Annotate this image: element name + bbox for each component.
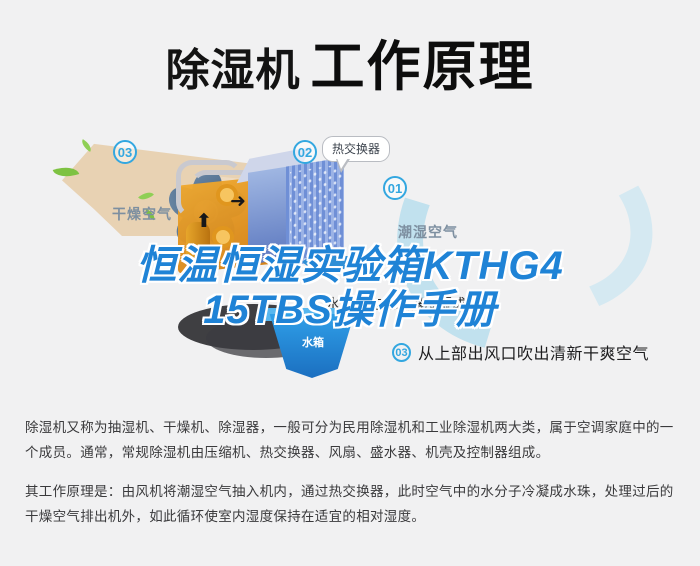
dehumidifier-principle-page: 除湿机工作原理 03 干燥空气 ➜ ⬇ ⬆: [0, 0, 700, 566]
paragraph-1: 除湿机又称为抽湿机、干燥机、除湿器，一般可分为民用除湿机和工业除湿机两大类，属于…: [25, 415, 680, 465]
step-badge-01: 01: [383, 176, 407, 200]
page-title: 除湿机工作原理: [0, 22, 700, 101]
principle-illustration: 03 干燥空气 ➜ ⬇ ⬆ ⬇ 02 热交换器 0: [0, 118, 700, 408]
humid-air-label: 潮湿空气: [398, 222, 458, 242]
step-badge-03: 03: [113, 140, 137, 164]
page-title-part1: 除湿机: [166, 46, 301, 95]
step-badge-02: 02: [293, 140, 317, 164]
heat-exchanger-callout: 热交换器: [322, 136, 390, 162]
air-intake-arrow: [318, 256, 372, 269]
page-title-part2: 工作原理: [311, 37, 535, 97]
condensation-droplets: [290, 164, 342, 262]
paragraph-2: 其工作原理是：由风机将潮湿空气抽入机内，通过热交换器，此时空气中的水分子冷凝成水…: [25, 479, 680, 529]
body-copy: 除湿机又称为抽湿机、干燥机、除湿器，一般可分为民用除湿机和工业除湿机两大类，属于…: [25, 415, 680, 543]
step-badge-03-bottom: 03: [392, 343, 411, 362]
callout-tail: [336, 159, 350, 173]
coil-ring: [212, 226, 234, 248]
water-tank-label: 水箱: [302, 334, 324, 350]
flow-arrow-right-icon: ➜: [230, 192, 246, 211]
flow-arrow-up-icon: ⬆: [196, 212, 212, 231]
step-03-text: 从上部出风口吹出清新干爽空气: [418, 340, 649, 364]
step-03-line: 03 从上部出风口吹出清新干爽空气: [392, 340, 649, 364]
